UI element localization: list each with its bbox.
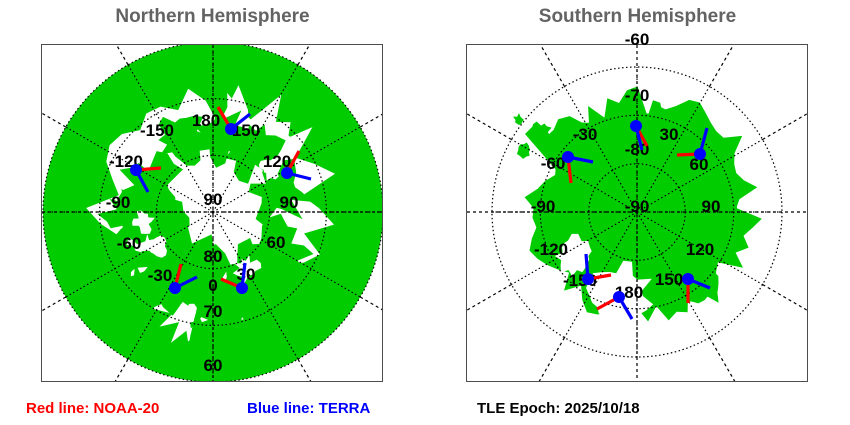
grid-label: -30 bbox=[573, 125, 598, 144]
grid-label: 80 bbox=[204, 247, 223, 266]
tle-epoch-label: TLE Epoch: 2025/10/18 bbox=[477, 400, 640, 417]
grid-label: -120 bbox=[534, 240, 568, 259]
grid-label: -150 bbox=[140, 121, 174, 140]
grid-label: 30 bbox=[660, 125, 679, 144]
northern-plot-frame: 607080900306090120150180-150-120-90-60-3… bbox=[41, 44, 383, 382]
grid-label: -70 bbox=[625, 86, 650, 105]
panel-southern-hemisphere: Southern Hemisphere -60-70-80-9030609012… bbox=[425, 0, 850, 425]
south-outer-latitude-label: -60 bbox=[615, 30, 659, 50]
grid-label: 150 bbox=[655, 270, 683, 289]
grid-label: 60 bbox=[204, 356, 223, 375]
grid-label: -60 bbox=[541, 154, 566, 173]
northern-polar-projection: 607080900306090120150180-150-120-90-60-3… bbox=[42, 45, 382, 381]
grid-label: 180 bbox=[192, 111, 220, 130]
southern-hemisphere-title: Southern Hemisphere bbox=[425, 6, 850, 28]
grid-label: -60 bbox=[117, 234, 142, 253]
grid-label: -90 bbox=[106, 193, 131, 212]
northern-hemisphere-title: Northern Hemisphere bbox=[0, 6, 425, 28]
legend-terra: Blue line: TERRA bbox=[247, 400, 370, 417]
satellite-track-figure: Northern Hemisphere 60708090030609012015… bbox=[0, 0, 850, 425]
grid-label: 90 bbox=[280, 193, 299, 212]
grid-label: 90 bbox=[204, 190, 223, 209]
grid-label: -90 bbox=[531, 197, 556, 216]
grid-label: 70 bbox=[204, 302, 223, 321]
grid-label: 60 bbox=[267, 233, 286, 252]
grid-label: -30 bbox=[148, 266, 173, 285]
southern-plot-frame: -60-70-80-90306090120150180-150-120-90-6… bbox=[466, 44, 808, 382]
grid-label: 120 bbox=[686, 240, 714, 259]
grid-label: 90 bbox=[702, 197, 721, 216]
southern-polar-projection: -60-70-80-90306090120150180-150-120-90-6… bbox=[467, 45, 807, 381]
legend-noaa20: Red line: NOAA-20 bbox=[26, 400, 159, 417]
grid-label: -90 bbox=[625, 197, 650, 216]
grid-label: 0 bbox=[208, 276, 217, 295]
panel-northern-hemisphere: Northern Hemisphere 60708090030609012015… bbox=[0, 0, 425, 425]
